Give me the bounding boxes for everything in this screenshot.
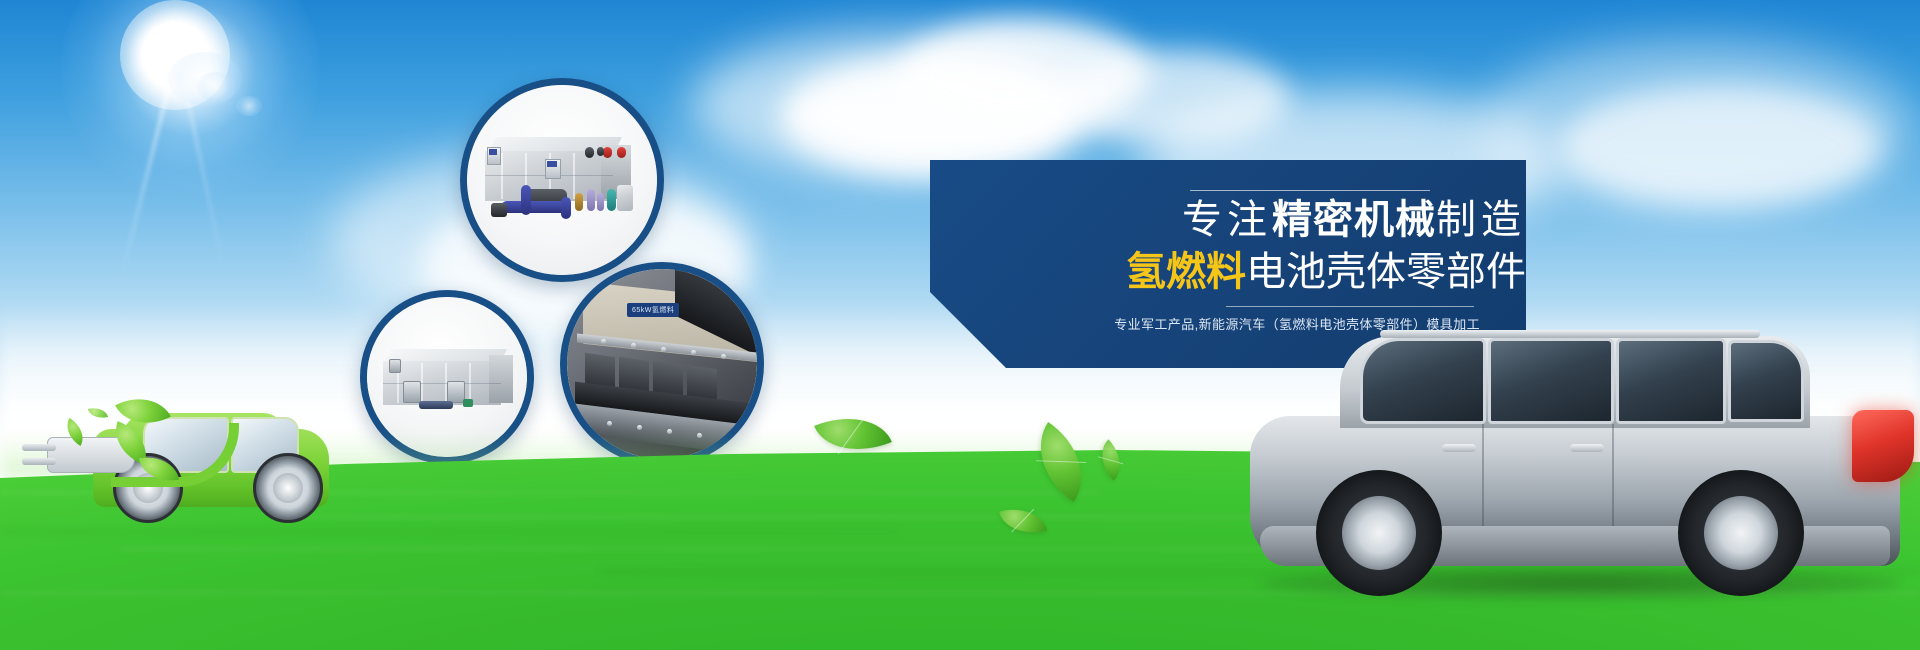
door-handle [1570, 444, 1604, 452]
lens-flare-icon [196, 72, 236, 102]
hero-banner: 65kW氢燃料 专注精密机械制造 氢燃料电池壳体零部件 专业军工产品,新能源汽车… [0, 0, 1920, 650]
green-electric-car[interactable] [55, 390, 355, 525]
suv-window [1360, 338, 1486, 424]
headline-suffix: 制造 [1436, 198, 1526, 242]
cloud-icon [1560, 86, 1880, 206]
suv-window [1616, 338, 1726, 424]
lens-flare-icon [236, 96, 262, 116]
suv-wheel [1316, 470, 1442, 596]
headline-highlight: 氢燃料 [1126, 250, 1246, 294]
tail-light [1852, 410, 1914, 482]
car-wheel [253, 453, 323, 523]
photo-caption-label: 65kW氢燃料 [627, 303, 679, 317]
photo-circle-fuel-cell-battery-pack[interactable] [460, 78, 664, 282]
suv-wheel [1678, 470, 1804, 596]
suv-window [1728, 340, 1804, 422]
headline-line-1: 专注精密机械制造 [990, 196, 1526, 244]
suv-window [1488, 338, 1614, 424]
divider-top [1190, 190, 1430, 191]
headline-emphasis: 精密机械 [1272, 198, 1436, 242]
door-handle [1442, 444, 1476, 452]
silver-suv[interactable] [1230, 280, 1920, 610]
roof-rail [1380, 330, 1760, 338]
headline-prefix: 专注 [1182, 198, 1272, 242]
leaf-icon [88, 405, 108, 420]
